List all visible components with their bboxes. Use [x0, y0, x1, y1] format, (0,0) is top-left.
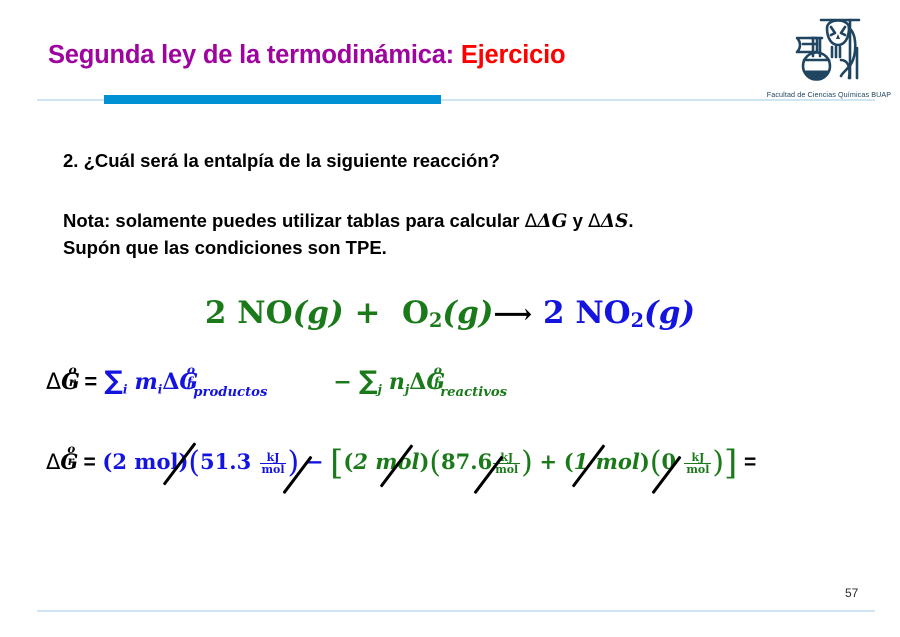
header-divider-thick: [104, 95, 441, 104]
formula-general-lhs: ΔGor: [46, 369, 78, 395]
numeric-bracket-close: ]: [724, 449, 737, 474]
note-line1-b: y: [567, 210, 588, 231]
question-text: 2. ¿Cuál será la entalpía de la siguient…: [63, 150, 500, 172]
formula-numeric-equals: =: [83, 451, 95, 474]
g-with-scripts: Gor: [61, 369, 78, 395]
reactant-species-2: O: [402, 295, 429, 331]
product-state: (g): [644, 295, 695, 331]
unit-kj-per-mol: kJmol: [260, 452, 287, 476]
equation-products: 2 NO2(g): [532, 295, 695, 331]
reactant-coeff-1: 2: [205, 295, 227, 331]
reaction-arrow: ⟶: [493, 299, 532, 330]
product-species: NO: [575, 295, 630, 331]
formula-general: ΔGor = ∑i miΔGofproductos− ∑j njΔGofreac…: [46, 366, 507, 400]
numeric-term-2: (2 mol)(87.6kJmol): [343, 449, 532, 474]
formula-general-products-term: ∑i miΔGofproductos: [104, 370, 267, 395]
product-coeff: 2: [543, 295, 565, 331]
reactant-state-1: (g): [293, 295, 344, 331]
logo-caption: Facultad de Ciencias Químicas BUAP: [763, 90, 895, 99]
numeric-plus: +: [540, 449, 558, 474]
formula-general-equals: =: [84, 369, 97, 394]
numeric-bracket-open: [: [330, 449, 343, 474]
note-line1-a: Nota: solamente puedes utilizar tablas p…: [63, 210, 525, 231]
numeric-term-3: (1 mol)(0 kJmol): [564, 449, 724, 474]
page-title-main: Segunda ley de la termodinámica:: [48, 41, 461, 69]
slide-canvas: Segunda ley de la termodinámica: Ejercic…: [0, 0, 900, 637]
unit-kj-per-mol: kJmol: [684, 452, 711, 476]
formula-numeric-lhs: ΔGor: [46, 449, 77, 474]
reactant-species-1: NO: [237, 295, 292, 331]
formula-numeric: ΔGor = (2 mol)(51.3 kJmol) − [(2 mol)(87…: [46, 443, 756, 483]
owl-flask-icon: [787, 8, 873, 86]
faculty-logo: Facultad de Ciencias Químicas BUAP: [763, 8, 895, 104]
reactant-sub-2: 2: [429, 309, 442, 332]
reactant-state-2: (g): [442, 295, 493, 331]
note-line1-c: .: [628, 210, 633, 231]
delta-g-symbol: ΔΔG: [525, 211, 568, 232]
page-number: 57: [845, 586, 858, 600]
product-sub: 2: [631, 309, 644, 332]
numeric-trailing-equals: =: [744, 451, 756, 474]
note-text: Nota: solamente puedes utilizar tablas p…: [63, 208, 841, 262]
footer-divider: [37, 610, 875, 612]
delta-s-symbol: ΔΔS: [588, 211, 628, 232]
chemical-equation: 2 NO(g) + O2(g)⟶ 2 NO2(g): [0, 295, 900, 332]
numeric-term-1: (2 mol)(51.3 kJmol): [102, 449, 299, 474]
page-title: Segunda ley de la termodinámica: Ejercic…: [48, 41, 565, 70]
page-title-accent: Ejercicio: [461, 41, 566, 69]
equation-plus: +: [354, 295, 380, 331]
note-line2: Supón que las condiciones son TPE.: [63, 235, 841, 261]
equation-reactants: 2 NO(g) + O2(g): [205, 295, 494, 331]
formula-general-reactants-term: − ∑j njΔGofreactivos: [333, 370, 507, 395]
